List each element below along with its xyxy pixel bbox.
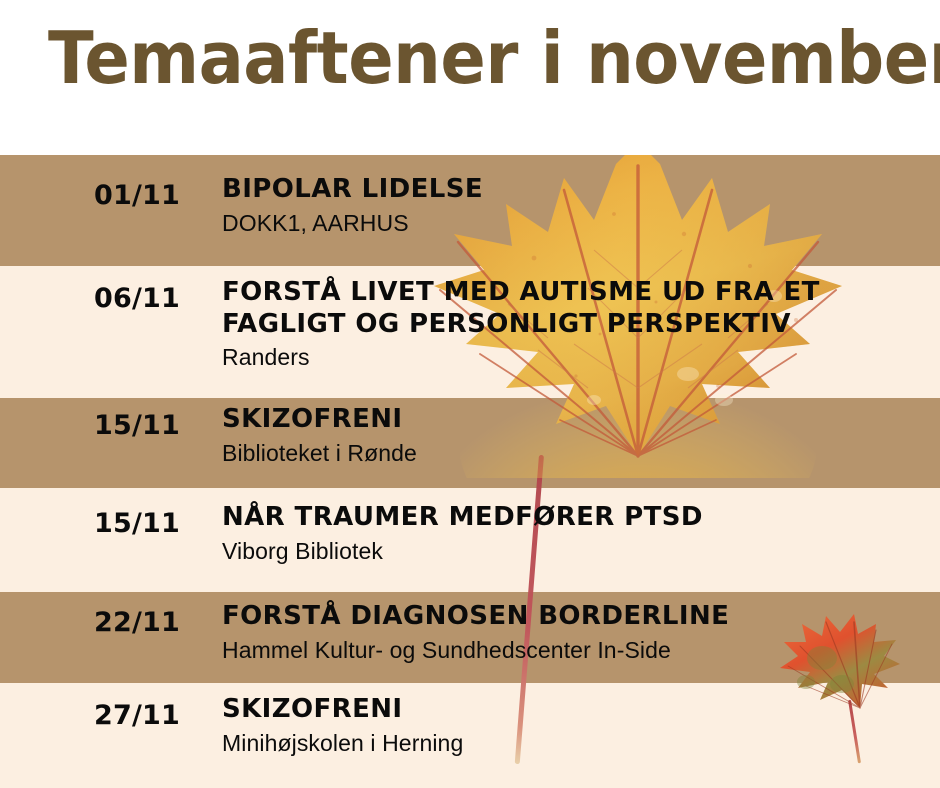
- event-body: SKIZOFRENI Minihøjskolen i Herning: [222, 694, 922, 757]
- event-body: SKIZOFRENI Biblioteket i Rønde: [222, 404, 922, 467]
- event-location: Minihøjskolen i Herning: [222, 730, 922, 758]
- event-date: 15/11: [62, 508, 212, 539]
- event-location: DOKK1, AARHUS: [222, 210, 922, 238]
- event-date: 06/11: [62, 283, 212, 314]
- event-date: 27/11: [62, 700, 212, 731]
- event-body: FORSTÅ LIVET MED AUTISME UD FRA ET FAGLI…: [222, 277, 922, 372]
- event-body: BIPOLAR LIDELSE DOKK1, AARHUS: [222, 174, 922, 237]
- event-body: FORSTÅ DIAGNOSEN BORDERLINE Hammel Kultu…: [222, 601, 922, 664]
- event-title: SKIZOFRENI: [222, 404, 922, 436]
- event-date: 22/11: [62, 607, 212, 638]
- event-location: Viborg Bibliotek: [222, 538, 922, 566]
- event-date: 01/11: [62, 180, 212, 211]
- event-title: FORSTÅ DIAGNOSEN BORDERLINE: [222, 601, 922, 633]
- event-location: Randers: [222, 344, 922, 372]
- event-title: BIPOLAR LIDELSE: [222, 174, 922, 206]
- event-title: FORSTÅ LIVET MED AUTISME UD FRA ET FAGLI…: [222, 277, 922, 340]
- event-date: 15/11: [62, 410, 212, 441]
- title-band: Temaaftener i november: [0, 0, 940, 155]
- event-body: NÅR TRAUMER MEDFØRER PTSD Viborg Bibliot…: [222, 502, 922, 565]
- event-location: Hammel Kultur- og Sundhedscenter In-Side: [222, 637, 922, 665]
- event-location: Biblioteket i Rønde: [222, 440, 922, 468]
- event-title: SKIZOFRENI: [222, 694, 922, 726]
- page-title: Temaaftener i november: [48, 22, 940, 94]
- poster-root: Temaaftener i november: [0, 0, 940, 788]
- event-title: NÅR TRAUMER MEDFØRER PTSD: [222, 502, 922, 534]
